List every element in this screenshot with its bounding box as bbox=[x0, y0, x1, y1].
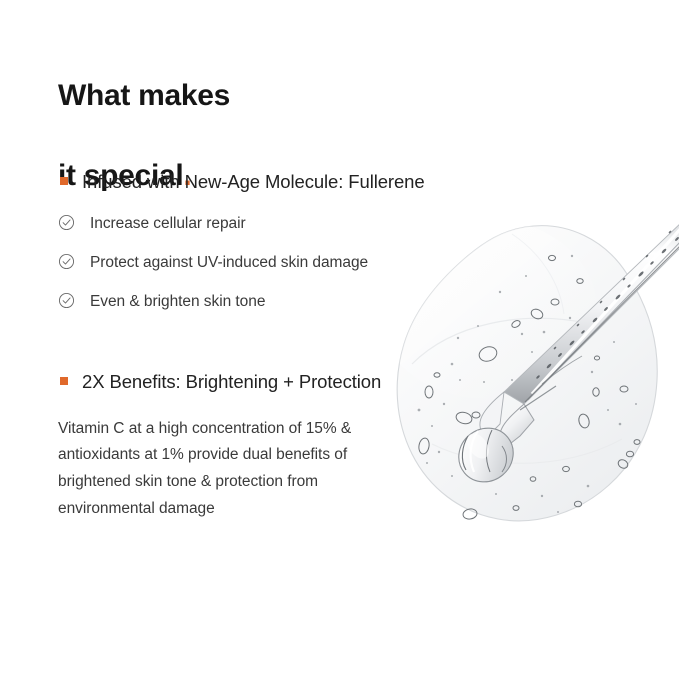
feature-title-text: 2X Benefits: Brightening + Protection bbox=[82, 371, 381, 392]
list-item-label: Even & brighten skin tone bbox=[90, 293, 265, 310]
list-item-label: Protect against UV-induced skin damage bbox=[90, 254, 368, 271]
benefit-check-list: Increase cellular repair Protect against… bbox=[58, 213, 458, 312]
check-circle-icon bbox=[58, 214, 75, 231]
glass-pipette bbox=[448, 220, 679, 493]
feature-block-fullerene: Infused with New-Age Molecule: Fullerene… bbox=[58, 168, 458, 312]
orange-square-bullet-icon bbox=[60, 377, 68, 385]
feature-title-text: Infused with New-Age Molecule: Fullerene bbox=[82, 171, 425, 192]
product-feature-panel: What makes it special. Infused with New-… bbox=[0, 0, 679, 679]
orange-square-bullet-icon bbox=[60, 177, 68, 185]
dropper-tip bbox=[448, 417, 524, 493]
feature-block-2x-benefits: 2X Benefits: Brightening + Protection Vi… bbox=[58, 368, 458, 522]
page-title-line-1: What makes bbox=[58, 79, 230, 112]
list-item: Even & brighten skin tone bbox=[58, 291, 458, 313]
feature-description: Vitamin C at a high concentration of 15%… bbox=[58, 416, 358, 523]
feature-title-fullerene: Infused with New-Age Molecule: Fullerene bbox=[58, 168, 458, 195]
list-item: Protect against UV-induced skin damage bbox=[58, 252, 458, 274]
features-column: Infused with New-Age Molecule: Fullerene… bbox=[58, 168, 458, 522]
feature-title-2x-benefits: 2X Benefits: Brightening + Protection bbox=[58, 368, 458, 395]
check-circle-icon bbox=[58, 292, 75, 309]
check-circle-icon bbox=[58, 253, 75, 270]
pipette-texture bbox=[536, 230, 679, 379]
list-item-label: Increase cellular repair bbox=[90, 215, 246, 232]
list-item: Increase cellular repair bbox=[58, 213, 458, 235]
